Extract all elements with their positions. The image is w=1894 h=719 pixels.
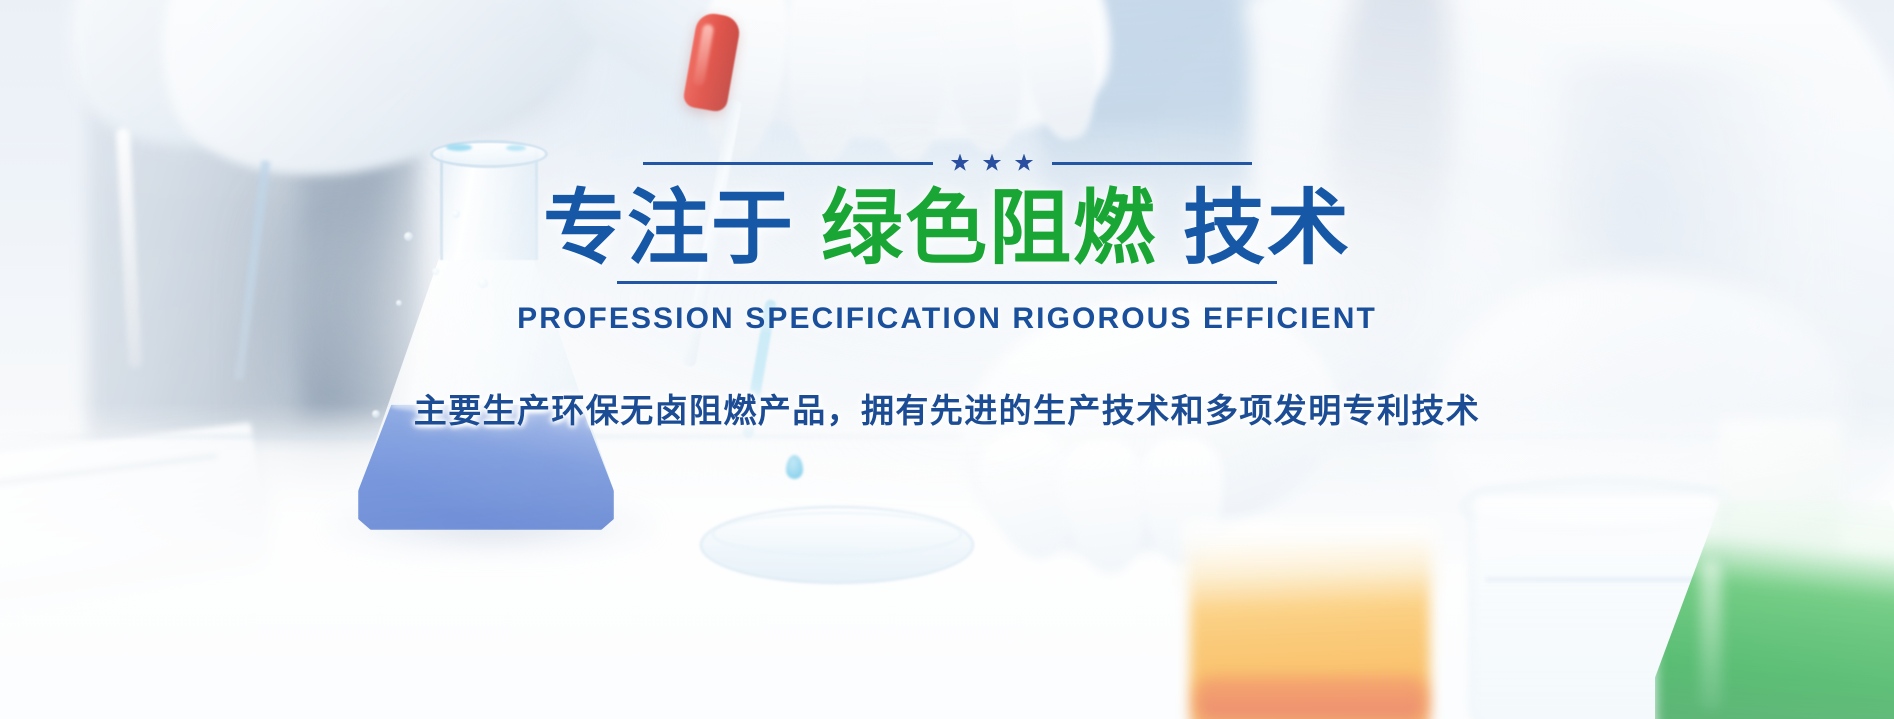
star-icon [1015,154,1034,173]
divider-line-right [1052,162,1252,165]
headline-part-3: 技术 [1183,183,1351,274]
clear-beaker-graduation [1486,578,1704,581]
star-group [933,154,1052,173]
star-icon [951,154,970,173]
english-subtitle: PROFESSION SPECIFICATION RIGOROUS EFFICI… [517,302,1377,336]
lab-bench-edge [0,435,1894,438]
star-icon [983,154,1002,173]
banner-content: 专注于绿色阻燃技术 PROFESSION SPECIFICATION RIGOR… [0,150,1894,432]
hero-banner: 专注于绿色阻燃技术 PROFESSION SPECIFICATION RIGOR… [0,0,1894,719]
chinese-tagline: 主要生产环保无卤阻燃产品，拥有先进的生产技术和多项发明专利技术 [414,384,1480,432]
headline: 专注于绿色阻燃技术 [543,186,1351,271]
divider-line-left [643,162,933,165]
headline-part-2: 绿色阻燃 [821,183,1157,274]
top-divider [617,150,1277,176]
headline-part-1: 专注于 [543,183,795,274]
green-flask-highlight [1700,560,1722,710]
orange-beaker-base [1196,676,1426,719]
bottom-divider [617,281,1277,284]
pipette-droplet [786,455,803,479]
petri-dish-rim [712,512,962,556]
